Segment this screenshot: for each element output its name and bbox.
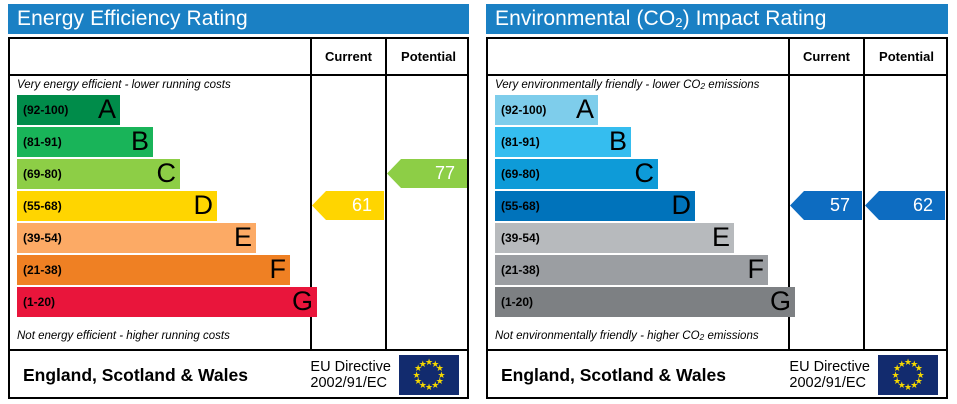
rating-band-d: (55-68)D <box>495 191 695 221</box>
band-range-label: (55-68) <box>17 199 62 213</box>
chart-title-band: Energy Efficiency Rating <box>8 4 469 34</box>
band-range-label: (39-54) <box>17 231 62 245</box>
eu-flag: ★★★★★★★★★★★★ <box>878 355 938 395</box>
potential-column-header: Potential <box>387 39 470 74</box>
epc-charts-page: Energy Efficiency RatingCurrentPotential… <box>0 0 957 404</box>
band-range-label: (92-100) <box>17 103 68 117</box>
band-letter: B <box>131 128 149 155</box>
chart-footer: England, Scotland & WalesEU Directive200… <box>10 351 467 399</box>
caption-top: Very energy efficient - lower running co… <box>17 79 231 91</box>
band-range-label: (81-91) <box>495 135 540 149</box>
rating-band-e: (39-54)E <box>495 223 734 253</box>
band-range-label: (21-38) <box>17 263 62 277</box>
band-range-label: (69-80) <box>495 167 540 181</box>
band-range-label: (92-100) <box>495 103 546 117</box>
band-letter: F <box>270 256 287 283</box>
eu-directive-line2: 2002/91/EC <box>789 375 870 391</box>
rating-band-d: (55-68)D <box>17 191 217 221</box>
caption-bottom: Not environmentally friendly - higher CO… <box>495 330 759 342</box>
band-range-label: (21-38) <box>495 263 540 277</box>
potential-column-header: Potential <box>865 39 948 74</box>
band-letter: A <box>98 96 116 123</box>
band-letter: D <box>672 192 692 219</box>
region-label: England, Scotland & Wales <box>10 365 248 386</box>
row-divider <box>10 74 467 76</box>
chart-title: Environmental (CO2) Impact Rating <box>486 7 827 31</box>
potential-rating-arrow-value: 77 <box>435 163 455 184</box>
rating-band-f: (21-38)F <box>495 255 768 285</box>
row-divider <box>488 74 946 76</box>
eu-directive-line2: 2002/91/EC <box>310 375 391 391</box>
current-rating-arrow: 61 <box>312 191 384 220</box>
potential-rating-arrow: 62 <box>865 191 945 220</box>
rating-table: CurrentPotentialVery environmentally fri… <box>486 37 948 399</box>
current-column-header: Current <box>790 39 863 74</box>
chart-title: Energy Efficiency Rating <box>8 7 248 31</box>
eu-flag: ★★★★★★★★★★★★ <box>399 355 459 395</box>
rating-band-a: (92-100)A <box>495 95 598 125</box>
current-rating-arrow-value: 61 <box>352 195 372 216</box>
rating-band-g: (1-20)G <box>17 287 317 317</box>
band-range-label: (1-20) <box>17 295 55 309</box>
band-range-label: (69-80) <box>17 167 62 181</box>
band-range-label: (1-20) <box>495 295 533 309</box>
rating-band-e: (39-54)E <box>17 223 256 253</box>
band-letter: G <box>292 288 313 315</box>
potential-rating-arrow: 77 <box>387 159 467 188</box>
rating-band-a: (92-100)A <box>17 95 120 125</box>
current-rating-arrow-value: 57 <box>830 195 850 216</box>
rating-band-g: (1-20)G <box>495 287 795 317</box>
caption-bottom: Not energy efficient - higher running co… <box>17 330 230 342</box>
region-label: England, Scotland & Wales <box>488 365 726 386</box>
rating-band-b: (81-91)B <box>495 127 631 157</box>
band-letter: E <box>712 224 730 251</box>
rating-band-c: (69-80)C <box>17 159 180 189</box>
rating-band-bars: (92-100)A(81-91)B(69-80)C(55-68)D(39-54)… <box>495 95 795 319</box>
rating-table: CurrentPotentialVery energy efficient - … <box>8 37 469 399</box>
rating-band-c: (69-80)C <box>495 159 658 189</box>
rating-band-f: (21-38)F <box>17 255 290 285</box>
band-letter: C <box>635 160 655 187</box>
band-letter: D <box>194 192 214 219</box>
rating-band-bars: (92-100)A(81-91)B(69-80)C(55-68)D(39-54)… <box>17 95 317 319</box>
caption-top: Very environmentally friendly - lower CO… <box>495 79 759 91</box>
column-divider <box>863 39 865 351</box>
current-column-header: Current <box>312 39 385 74</box>
current-rating-arrow: 57 <box>790 191 862 220</box>
chart-title-band: Environmental (CO2) Impact Rating <box>486 4 948 34</box>
potential-rating-arrow-value: 62 <box>913 195 933 216</box>
chart-footer: England, Scotland & WalesEU Directive200… <box>488 351 946 399</box>
band-letter: F <box>748 256 765 283</box>
energy-efficiency-chart: Energy Efficiency RatingCurrentPotential… <box>0 0 478 404</box>
eu-flag-star: ★ <box>418 360 427 369</box>
band-range-label: (81-91) <box>17 135 62 149</box>
band-letter: B <box>609 128 627 155</box>
band-letter: G <box>770 288 791 315</box>
eu-directive-line1: EU Directive <box>789 359 870 375</box>
column-divider <box>385 39 387 351</box>
band-range-label: (39-54) <box>495 231 540 245</box>
band-range-label: (55-68) <box>495 199 540 213</box>
eu-directive-label: EU Directive2002/91/EC <box>789 359 878 392</box>
co2-impact-chart: Environmental (CO2) Impact RatingCurrent… <box>478 0 957 404</box>
band-letter: A <box>576 96 594 123</box>
band-letter: E <box>234 224 252 251</box>
rating-band-b: (81-91)B <box>17 127 153 157</box>
eu-directive-line1: EU Directive <box>310 359 391 375</box>
eu-directive-label: EU Directive2002/91/EC <box>310 359 399 392</box>
band-letter: C <box>157 160 177 187</box>
eu-flag-star: ★ <box>897 360 906 369</box>
